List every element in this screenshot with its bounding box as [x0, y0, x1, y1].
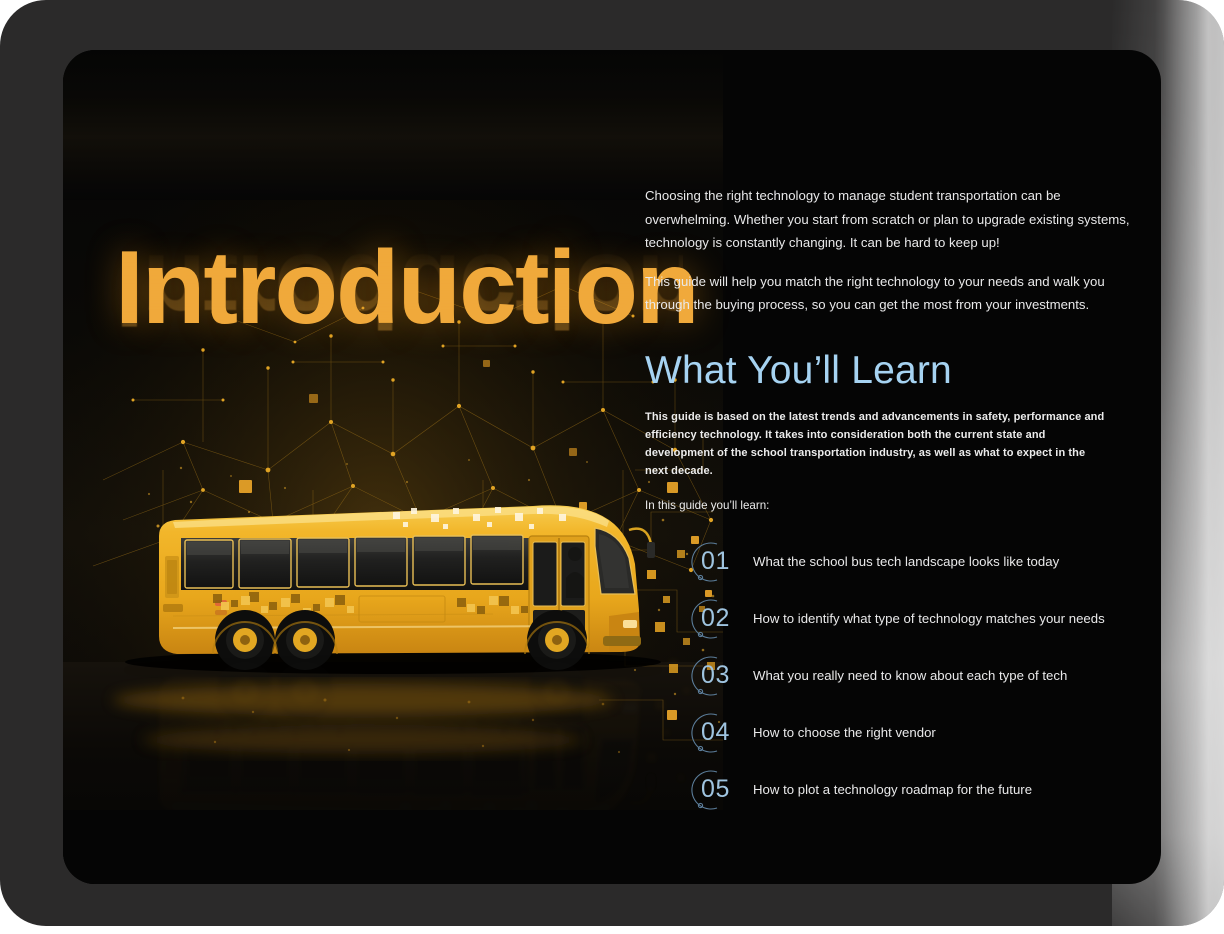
list-item: 04 How to choose the right vendor — [645, 704, 1135, 761]
bus-artwork — [63, 50, 723, 884]
step-label: How to identify what type of technology … — [753, 610, 1105, 627]
step-number: 04 — [701, 720, 730, 745]
list-item: 01 What the school bus tech landscape lo… — [645, 533, 1135, 590]
bezel-gloss-edge — [1164, 0, 1224, 926]
learn-items-list: 01 What the school bus tech landscape lo… — [645, 533, 1135, 818]
step-number: 03 — [701, 663, 730, 688]
step-number: 02 — [701, 606, 730, 631]
list-item: 05 How to plot a technology roadmap for … — [645, 761, 1135, 818]
intro-paragraph-2: This guide will help you match the right… — [645, 270, 1135, 317]
learn-description: This guide is based on the latest trends… — [645, 408, 1107, 480]
what-you-will-learn-heading: What You’ll Learn — [645, 351, 1135, 392]
step-badge: 02 — [687, 596, 753, 642]
device-frame: Introduction Introduction Choosing the r… — [0, 0, 1224, 926]
step-label: What you really need to know about each … — [753, 667, 1067, 684]
list-item: 02 How to identify what type of technolo… — [645, 590, 1135, 647]
step-label: What the school bus tech landscape looks… — [753, 553, 1059, 570]
step-label: How to plot a technology roadmap for the… — [753, 781, 1032, 798]
content-column: Choosing the right technology to manage … — [645, 184, 1135, 818]
list-item: 03 What you really need to know about ea… — [645, 647, 1135, 704]
step-number: 05 — [701, 777, 730, 802]
step-badge: 03 — [687, 653, 753, 699]
step-badge: 05 — [687, 767, 753, 813]
step-badge: 01 — [687, 539, 753, 585]
slide-canvas: Introduction Introduction Choosing the r… — [63, 50, 1161, 884]
step-label: How to choose the right vendor — [753, 724, 936, 741]
intro-paragraph-1: Choosing the right technology to manage … — [645, 184, 1135, 255]
step-badge: 04 — [687, 710, 753, 756]
step-number: 01 — [701, 549, 730, 574]
learn-lead-in: In this guide you’ll learn: — [645, 497, 1135, 515]
